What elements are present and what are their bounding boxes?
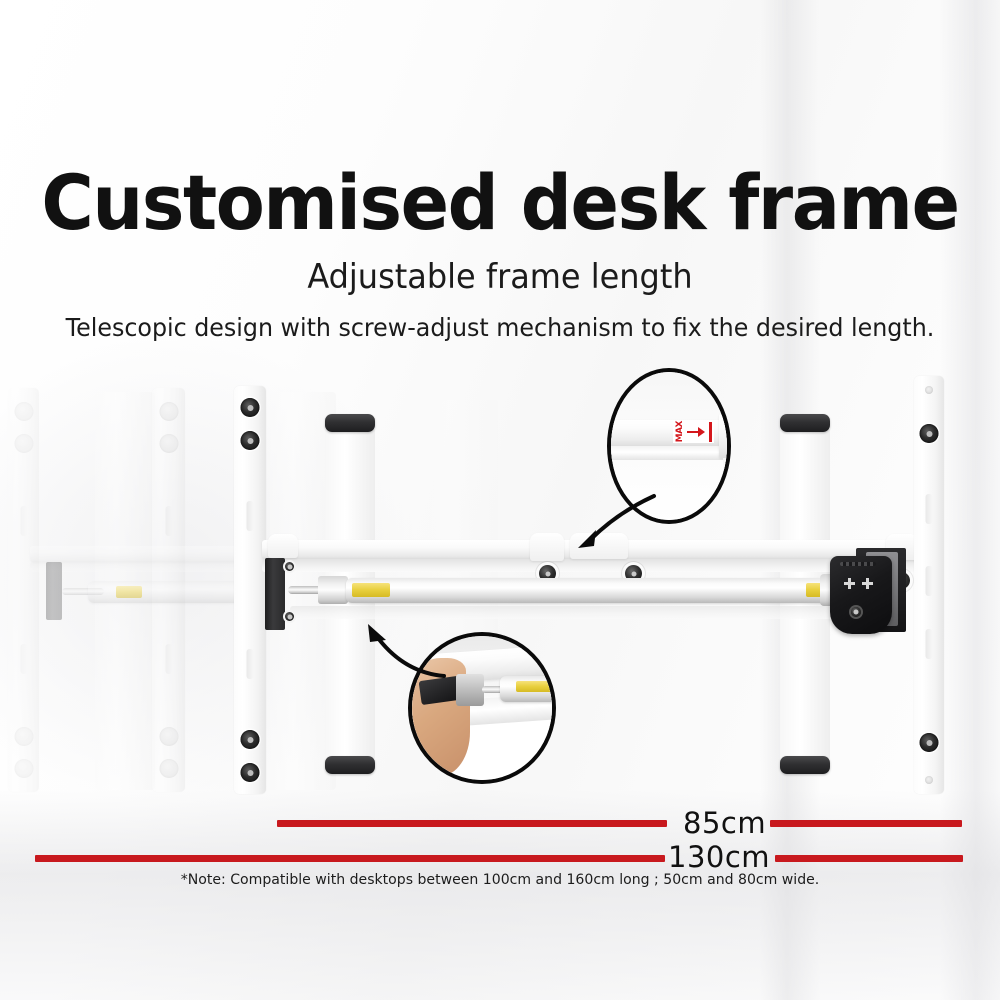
tool-head <box>456 674 484 706</box>
max-stop-bar <box>709 422 712 442</box>
measure-line-85-right <box>770 820 962 827</box>
compatibility-note: *Note: Compatible with desktops between … <box>15 872 985 888</box>
inset-rail-lower <box>607 446 725 460</box>
ghost-leg-1 <box>8 388 39 792</box>
arrow-to-frame-top <box>548 492 658 554</box>
beam-rail-shadow <box>262 559 922 572</box>
motor-bolt <box>851 607 861 617</box>
telescopic-tube <box>346 578 832 603</box>
ghost-bracket <box>46 562 62 620</box>
arrow-to-frame-bottom <box>352 616 448 684</box>
max-label-text: MAX <box>675 421 685 442</box>
motor-gearbox <box>830 556 892 634</box>
measure-label-85: 85cm <box>683 806 766 840</box>
tube-warning-label-left <box>352 583 390 597</box>
right-leg <box>914 376 944 794</box>
inset-rail-leg <box>723 458 731 500</box>
ghost-warning-label <box>116 586 142 598</box>
actuator-collar <box>318 576 348 604</box>
inset-rail-end <box>719 414 731 458</box>
inset-warning-label <box>516 681 556 692</box>
page-subtitle: Adjustable frame length <box>30 257 970 297</box>
bracket-bolt-b <box>285 612 294 621</box>
rail-tab-far-left <box>268 534 298 558</box>
left-actuator-bracket <box>265 558 285 630</box>
measure-line-85-left <box>277 820 667 827</box>
max-indicator: MAX <box>673 420 714 443</box>
bracket-bolt-a <box>285 562 294 571</box>
measure-label-130: 130cm <box>668 840 770 874</box>
left-leg <box>234 386 266 794</box>
page-tagline: Telescopic design with screw-adjust mech… <box>25 313 975 342</box>
max-arrow-icon <box>687 426 707 438</box>
page-title: Customised desk frame <box>30 165 970 241</box>
header-block: Customised desk frame Adjustable frame l… <box>0 0 1000 342</box>
measure-line-130-left <box>35 855 665 862</box>
measure-line-130-right <box>775 855 963 862</box>
